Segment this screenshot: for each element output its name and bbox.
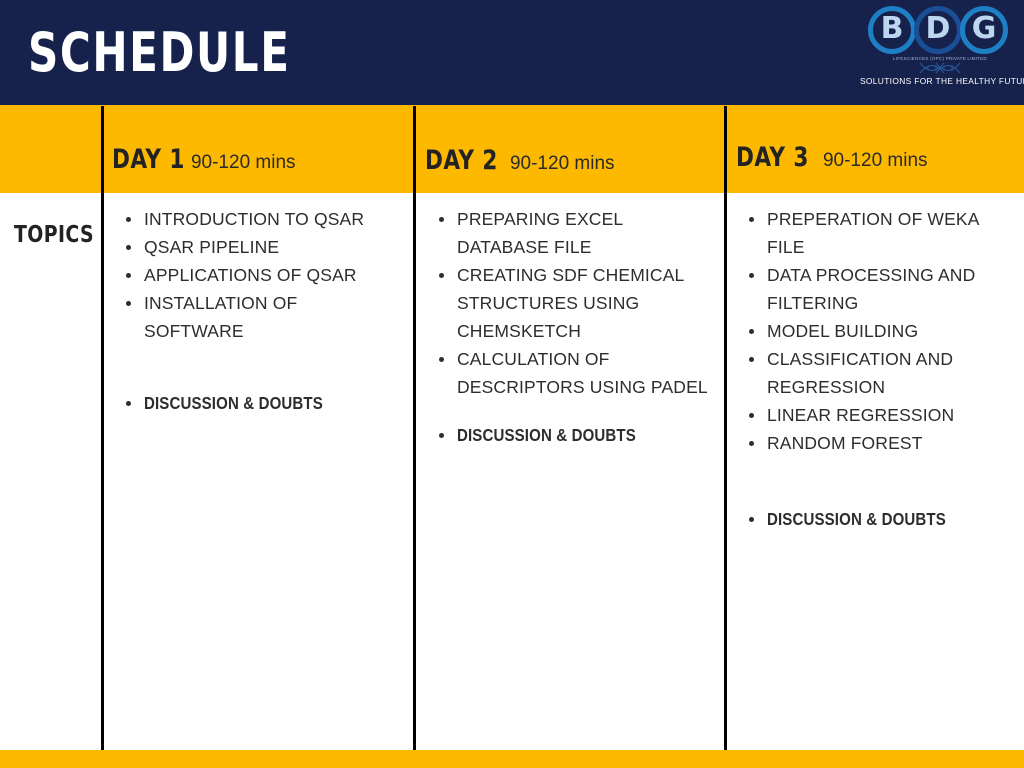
- topic-list: PREPERATION OF WEKA FILE DATA PROCESSING…: [741, 205, 1015, 457]
- discussion-label: DISCUSSION & DOUBTS: [767, 505, 946, 533]
- topic-list: PREPARING EXCEL DATABASE FILE CREATING S…: [431, 205, 717, 401]
- day-2-content: PREPARING EXCEL DATABASE FILE CREATING S…: [431, 205, 717, 449]
- list-item: INSTALLATION OF SOFTWARE: [118, 289, 402, 345]
- list-item: CREATING SDF CHEMICAL STRUCTURES USING C…: [431, 261, 717, 345]
- day-header-2: DAY 2 90-120 mins: [425, 146, 615, 176]
- list-item: CALCULATION OF DESCRIPTORS USING PADEL: [431, 345, 717, 401]
- header-bar: SCHEDULE B D G LIFESCIENCES (OPC) PRIVAT…: [0, 0, 1024, 105]
- logo-letter-g: G: [960, 11, 1008, 47]
- day-label: DAY 1: [112, 145, 185, 175]
- day-1-content: INTRODUCTION TO QSAR QSAR PIPELINE APPLI…: [118, 205, 402, 417]
- company-logo: B D G LIFESCIENCES (OPC) PRIVATE LIMITED…: [860, 6, 1020, 98]
- list-item: PREPERATION OF WEKA FILE: [741, 205, 1015, 261]
- topic-list: INTRODUCTION TO QSAR QSAR PIPELINE APPLI…: [118, 205, 402, 345]
- list-item: CLASSIFICATION AND REGRESSION: [741, 345, 1015, 401]
- column-divider: [724, 106, 727, 750]
- list-item: LINEAR REGRESSION: [741, 401, 1015, 429]
- day-header-1: DAY 1 90-120 mins: [112, 145, 296, 175]
- schedule-slide: SCHEDULE B D G LIFESCIENCES (OPC) PRIVAT…: [0, 0, 1024, 768]
- logo-tagline: SOLUTIONS FOR THE HEALTHY FUTURE: [860, 75, 1020, 87]
- discussion-label: DISCUSSION & DOUBTS: [144, 389, 323, 417]
- column-divider: [101, 106, 104, 750]
- list-item: RANDOM FOREST: [741, 429, 1015, 457]
- day-3-content: PREPERATION OF WEKA FILE DATA PROCESSING…: [741, 205, 1015, 533]
- day-duration: 90-120 mins: [191, 151, 296, 175]
- day-duration: 90-120 mins: [510, 152, 615, 176]
- day-header-3: DAY 3 90-120 mins: [736, 143, 928, 173]
- spacer: [431, 401, 717, 421]
- day-duration: 90-120 mins: [823, 149, 928, 173]
- discussion-list: DISCUSSION & DOUBTS: [431, 421, 717, 449]
- footer-bar: [0, 750, 1024, 768]
- discussion-label: DISCUSSION & DOUBTS: [457, 421, 636, 449]
- logo-company-line: LIFESCIENCES (OPC) PRIVATE LIMITED: [860, 55, 1020, 62]
- list-item: INTRODUCTION TO QSAR: [118, 205, 402, 233]
- list-item: QSAR PIPELINE: [118, 233, 402, 261]
- list-item-discussion: DISCUSSION & DOUBTS: [741, 505, 1015, 533]
- dna-helix-icon: [916, 62, 964, 74]
- list-item: DATA PROCESSING AND FILTERING: [741, 261, 1015, 317]
- list-item: PREPARING EXCEL DATABASE FILE: [431, 205, 717, 261]
- row-label-topics: TOPICS: [14, 222, 85, 248]
- discussion-list: DISCUSSION & DOUBTS: [741, 505, 1015, 533]
- list-item: APPLICATIONS OF QSAR: [118, 261, 402, 289]
- logo-letter-d: D: [914, 11, 962, 47]
- discussion-list: DISCUSSION & DOUBTS: [118, 389, 402, 417]
- list-item: MODEL BUILDING: [741, 317, 1015, 345]
- day-label: DAY 3: [736, 143, 809, 173]
- list-item-discussion: DISCUSSION & DOUBTS: [431, 421, 717, 449]
- logo-mark: B D G: [866, 6, 1014, 54]
- spacer: [741, 457, 1015, 505]
- logo-letter-b: B: [868, 11, 916, 47]
- page-title: SCHEDULE: [28, 24, 291, 82]
- list-item-discussion: DISCUSSION & DOUBTS: [118, 389, 402, 417]
- day-label: DAY 2: [425, 146, 498, 176]
- column-divider: [413, 106, 416, 750]
- spacer: [118, 345, 402, 389]
